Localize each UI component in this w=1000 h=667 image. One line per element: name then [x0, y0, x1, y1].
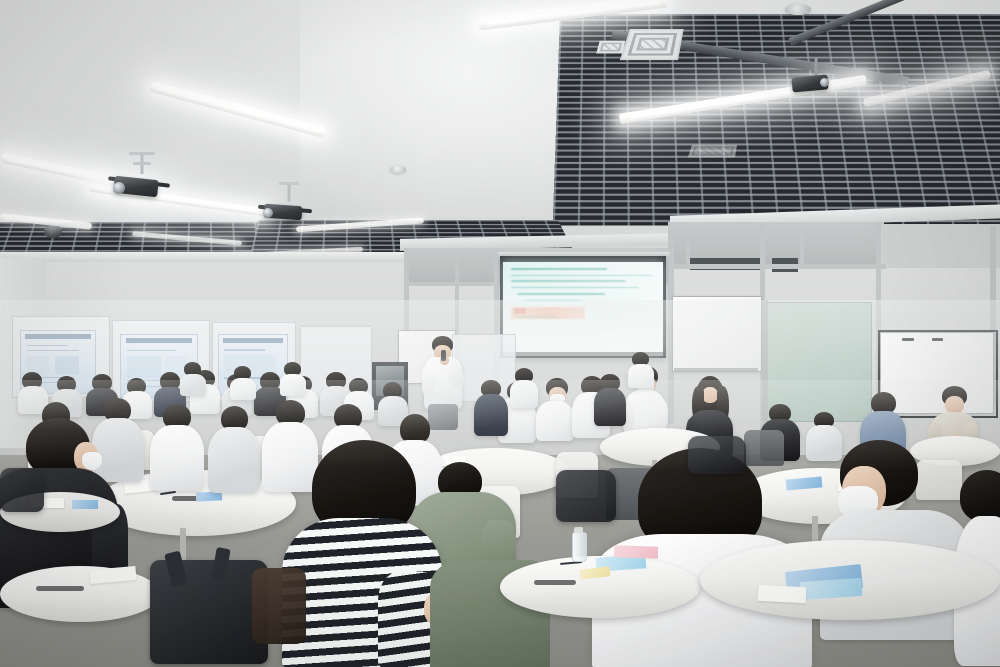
attendee — [510, 368, 538, 408]
ceiling-projector — [256, 182, 322, 234]
table-handle-slot — [36, 586, 84, 591]
ceiling-projector-right — [786, 58, 846, 110]
attendee-foreground-striped — [282, 440, 452, 667]
air-diffuser-far-icon — [688, 145, 737, 158]
attendee — [594, 374, 626, 426]
pink-leaflet — [614, 545, 658, 559]
projection-screen — [503, 262, 663, 354]
table-handle-slot — [534, 580, 576, 585]
bag-right — [688, 436, 746, 474]
presenter — [422, 336, 464, 426]
partition-mullion — [686, 224, 690, 264]
handout-paper — [758, 585, 807, 603]
wall-soffit-left — [0, 252, 410, 262]
bottle-cap — [574, 527, 583, 533]
bag-brown — [252, 568, 306, 644]
backpack-mid — [556, 470, 616, 522]
water-bottle — [572, 532, 587, 562]
attendee-masked — [536, 378, 574, 440]
attendee-foreground-black — [0, 418, 128, 667]
photo-scene: University seminar room presentation ses… — [0, 0, 1000, 667]
whiteboard-center — [672, 296, 762, 372]
attendee — [474, 380, 508, 436]
partition-mullion — [800, 226, 804, 266]
smoke-detector-icon — [785, 4, 811, 15]
backpack — [150, 560, 268, 664]
attendee — [280, 362, 306, 396]
attendee — [180, 362, 206, 396]
bag-left — [0, 468, 44, 512]
partition-rail — [668, 264, 886, 269]
whiteboard-tray — [674, 368, 758, 371]
attendee — [150, 404, 204, 490]
attendee — [628, 352, 654, 388]
blue-brochure — [72, 500, 98, 509]
air-diffuser-small-icon — [596, 41, 625, 54]
air-diffuser-icon — [620, 29, 684, 60]
ceiling-speaker-icon — [44, 225, 62, 238]
attendee — [230, 366, 256, 400]
partition-clerestory-far-right — [880, 224, 1000, 268]
smoke-detector-icon — [390, 166, 406, 173]
attendee — [208, 406, 260, 492]
ceiling-projector — [104, 152, 180, 210]
